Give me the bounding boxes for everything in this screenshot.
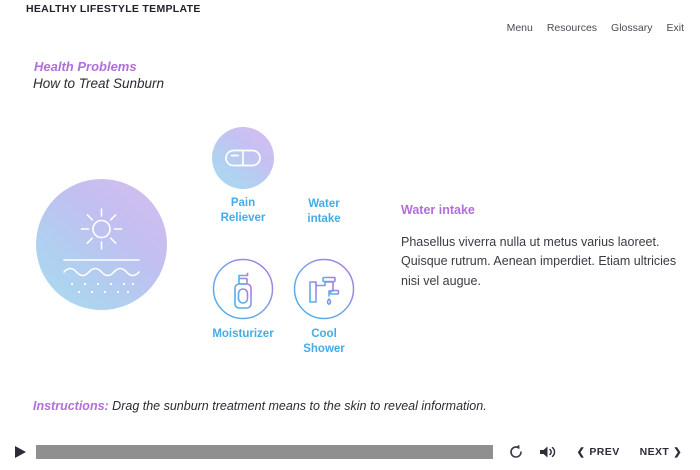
faucet-icon xyxy=(293,258,355,320)
slide-canvas: HEALTHY LIFESTYLE TEMPLATE Menu Resource… xyxy=(0,0,700,470)
label-line-1: Water xyxy=(308,198,340,210)
progress-bar[interactable] xyxy=(36,445,493,459)
nav-item-menu[interactable]: Menu xyxy=(507,22,533,34)
page-title: HEALTHY LIFESTYLE TEMPLATE xyxy=(26,3,201,15)
treatment-label-cool-shower: Cool Shower xyxy=(278,327,370,358)
nav-item-glossary[interactable]: Glossary xyxy=(611,22,652,34)
lotion-bottle-icon xyxy=(212,258,274,320)
treatment-item-moisturizer[interactable]: Moisturizer xyxy=(197,258,289,342)
play-icon xyxy=(14,445,27,459)
label-line-2: intake xyxy=(307,213,340,225)
moisturizer-circle[interactable] xyxy=(212,258,274,320)
sun-over-skin-icon xyxy=(36,179,167,310)
treatment-label-moisturizer: Moisturizer xyxy=(197,327,289,342)
top-navigation: Menu Resources Glossary Exit xyxy=(507,22,684,34)
player-toolbar: ❮ PREV NEXT ❯ xyxy=(0,434,700,470)
slide-subtitle: How to Treat Sunburn xyxy=(33,76,164,91)
label-line-2: Shower xyxy=(303,343,345,355)
prev-button-label: PREV xyxy=(589,446,619,458)
replay-icon xyxy=(508,444,524,460)
replay-button[interactable] xyxy=(507,443,525,461)
volume-icon xyxy=(539,444,556,460)
prev-button[interactable]: ❮ PREV xyxy=(577,446,620,458)
pain-reliever-circle[interactable] xyxy=(212,127,274,189)
nav-item-exit[interactable]: Exit xyxy=(666,22,684,34)
instructions: Instructions: Drag the sunburn treatment… xyxy=(33,399,487,413)
treatment-label-pain-reliever: Pain Reliever xyxy=(197,196,289,227)
nav-item-resources[interactable]: Resources xyxy=(547,22,597,34)
pill-icon xyxy=(212,127,274,189)
info-panel-body: Phasellus viverra nulla ut metus varius … xyxy=(401,233,677,291)
next-button-label: NEXT xyxy=(640,446,670,458)
instructions-label: Instructions: xyxy=(33,399,109,413)
treatment-item-water-intake[interactable]: Water intake xyxy=(278,197,370,228)
chevron-left-icon: ❮ xyxy=(577,447,586,458)
label-line-1: Cool xyxy=(311,328,337,340)
treatment-item-cool-shower[interactable]: Cool Shower xyxy=(278,258,370,358)
chevron-right-icon: ❯ xyxy=(673,447,682,458)
play-button[interactable] xyxy=(12,444,28,460)
slide-kicker: Health Problems xyxy=(34,59,137,74)
skin-drop-target[interactable] xyxy=(36,179,167,310)
treatment-label-water-intake: Water intake xyxy=(278,197,370,228)
instructions-text: Drag the sunburn treatment means to the … xyxy=(109,399,487,413)
volume-button[interactable] xyxy=(539,443,557,461)
treatment-item-pain-reliever[interactable]: Pain Reliever xyxy=(197,127,289,227)
label-line-2: Reliever xyxy=(221,212,266,224)
cool-shower-circle[interactable] xyxy=(293,258,355,320)
next-button[interactable]: NEXT ❯ xyxy=(640,446,682,458)
info-panel-title: Water intake xyxy=(401,203,475,217)
label-line-1: Pain xyxy=(231,197,255,209)
